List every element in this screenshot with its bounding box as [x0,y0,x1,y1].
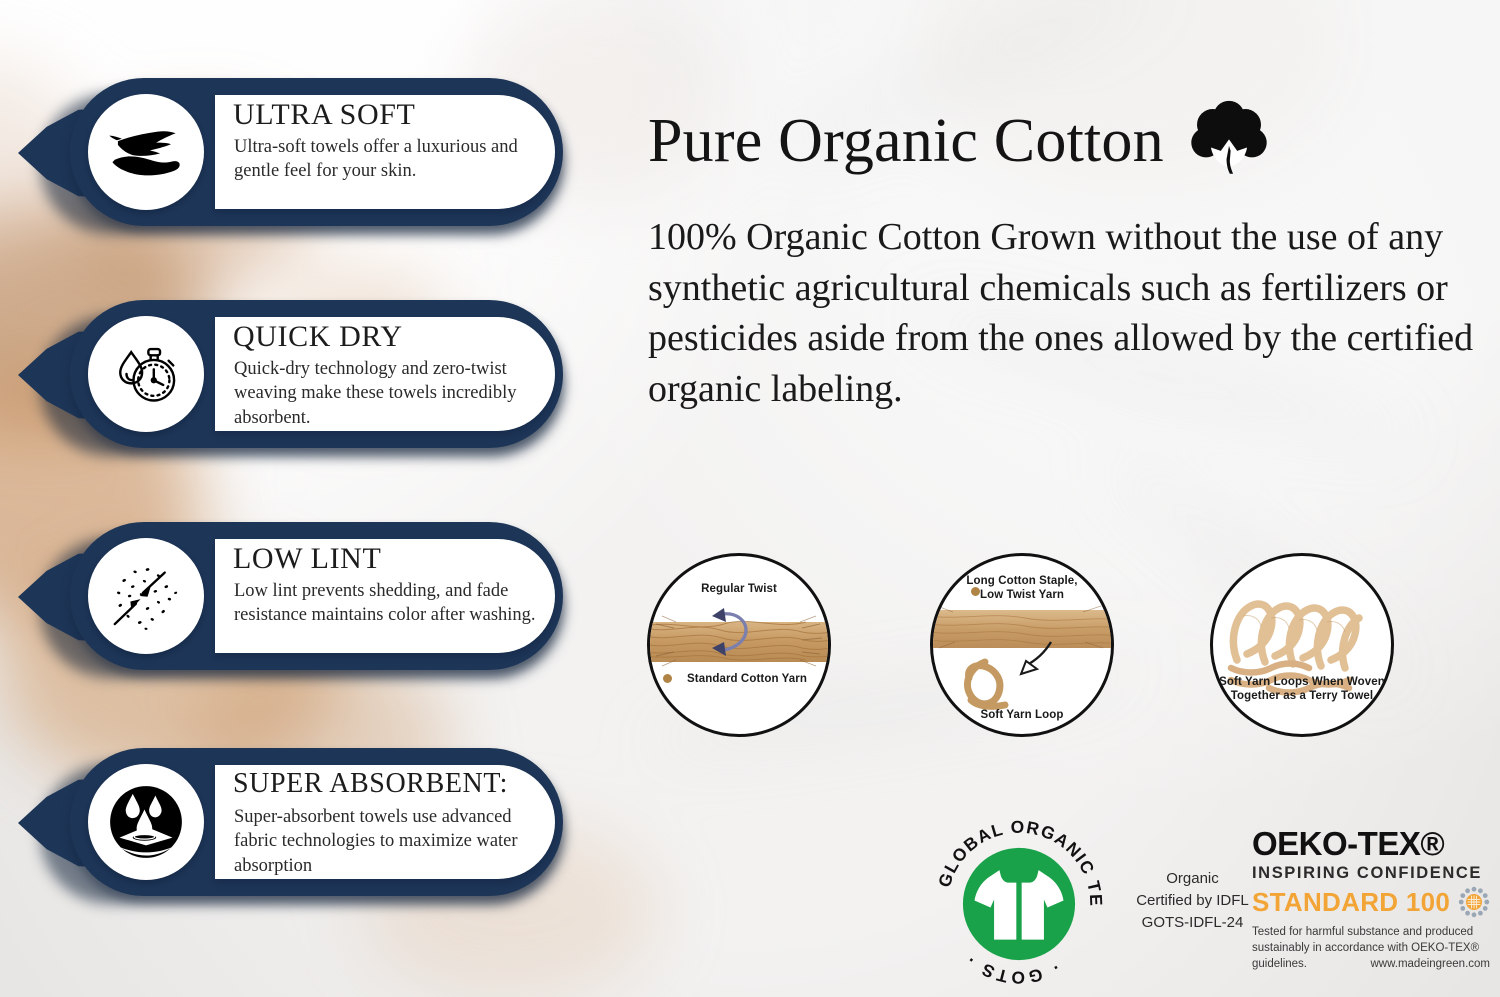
diagram-low-twist-loop: Long Cotton Staple, Low Twist Yarn Soft … [930,553,1114,737]
gots-logo-icon: GLOBAL ORGANIC TEXTILE STANDARD · GOTS · [930,815,1108,993]
feature-card-quick-dry[interactable]: QUICK DRY Quick-dry technology and zero-… [18,300,563,452]
page-title: Pure Organic Cotton [648,110,1164,172]
feature-description: Quick-dry technology and zero-twist weav… [234,357,554,430]
diagram-regular-twist: Regular Twist Standard Cotton Yarn [647,553,831,737]
certification-row: GLOBAL ORGANIC TEXTILE STANDARD · GOTS ·… [640,805,1500,995]
feature-title: SUPER ABSORBENT: [233,770,563,798]
feature-description: Ultra-soft towels offer a luxurious and … [234,135,554,184]
oeko-tex-standard-row: STANDARD 100 [1252,886,1500,918]
feature-description: Super-absorbent towels use advanced fabr… [234,805,554,878]
cotton-boll-icon [1186,100,1272,182]
droplet-stopwatch-icon [88,316,204,432]
legend-dot [971,587,980,596]
diagram-bottom-label: Soft Yarn Loop [933,708,1111,722]
diagram-top-label: Long Cotton Staple, Low Twist Yarn [933,574,1111,603]
oeko-tex-standard: STANDARD 100 [1252,889,1450,915]
feature-card-low-lint[interactable]: LOW LINT Low lint prevents shedding, and… [18,522,563,674]
infographic-canvas: ULTRA SOFT Ultra-soft towels offer a lux… [0,0,1500,997]
oeko-tex-subtitle: INSPIRING CONFIDENCE [1252,864,1500,883]
made-in-green-sun-icon [1458,886,1490,918]
feature-title: QUICK DRY [233,322,563,352]
feature-title: LOW LINT [233,544,563,574]
feature-card-super-absorbent[interactable]: SUPER ABSORBENT: Super-absorbent towels … [18,748,563,900]
gots-certificate-caption: Organic Certified by IDFL GOTS-IDFL-24 [1110,868,1275,933]
body-paragraph: 100% Organic Cotton Grown without the us… [648,212,1478,414]
right-content-column: Pure Organic Cotton 100% Organic Cotton … [640,0,1500,997]
feature-card-ultra-soft[interactable]: ULTRA SOFT Ultra-soft towels offer a lux… [18,78,563,230]
oeko-tex-fine-print: Tested for harmful substance and produce… [1252,925,1500,973]
diagram-bottom-label: Standard Cotton Yarn [650,672,828,686]
diagram-bottom-label: Soft Yarn Loops When Woven Together as a… [1213,675,1391,704]
terry-towel-loops-icon [1213,556,1391,734]
oeko-tex-title: OEKO-TEX® [1252,827,1500,860]
lint-particles-arrows-icon [88,538,204,654]
oeko-tex-badge: OEKO-TEX® INSPIRING CONFIDENCE STANDARD … [1252,827,1500,973]
feature-title: ULTRA SOFT [233,100,563,130]
diagram-terry-loops: Soft Yarn Loops When Woven Together as a… [1210,553,1394,737]
oeko-tex-url: www.madeingreen.com [1370,957,1490,973]
headline-row: Pure Organic Cotton [648,100,1272,182]
feature-card-list: ULTRA SOFT Ultra-soft towels offer a lux… [0,0,600,997]
feature-description: Low lint prevents shedding, and fade res… [234,579,554,628]
feather-on-hand-icon [88,94,204,210]
fine-print-tail: guidelines. [1252,957,1307,973]
water-drops-fabric-icon [88,764,204,880]
diagram-top-label: Regular Twist [650,582,828,596]
yarn-diagram-row: Regular Twist Standard Cotton Yarn [640,553,1500,753]
fine-print-text: Tested for harmful substance and produce… [1252,926,1479,954]
